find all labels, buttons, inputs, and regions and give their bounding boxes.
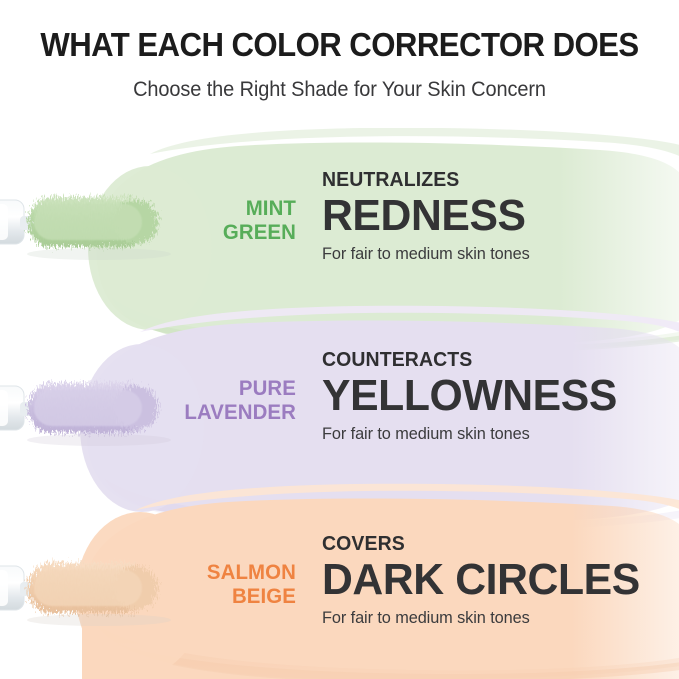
header: WHAT EACH COLOR CORRECTOR DOES Choose th…	[0, 0, 679, 102]
shade-name-line-2: BEIGE	[232, 584, 296, 608]
copy-column-mint-green: NEUTRALIZES REDNESS For fair to medium s…	[322, 170, 538, 262]
page-subtitle: Choose the Right Shade for Your Skin Con…	[17, 65, 662, 102]
caption-pure-lavender: For fair to medium skin tones	[322, 425, 614, 442]
shade-name-line-2: GREEN	[223, 220, 296, 244]
caption-mint-green: For fair to medium skin tones	[322, 245, 530, 262]
headline-mint-green: REDNESS	[322, 193, 532, 238]
eyebrow-pure-lavender: COUNTERACTS	[322, 350, 611, 371]
headline-pure-lavender: YELLOWNESS	[322, 373, 617, 418]
page-title: WHAT EACH COLOR CORRECTOR DOES	[24, 0, 655, 65]
shade-name-line-1: PURE	[239, 376, 296, 400]
shade-name-mint-green: MINT GREEN	[192, 196, 297, 245]
eyebrow-salmon-beige: COVERS	[322, 534, 633, 555]
shade-name-pure-lavender: PURE LAVENDER	[182, 376, 296, 425]
shade-name-salmon-beige: SALMON BEIGE	[182, 560, 296, 609]
copy-column-pure-lavender: COUNTERACTS YELLOWNESS For fair to mediu…	[322, 350, 626, 442]
shade-name-line-1: SALMON	[207, 560, 296, 584]
applicator-wand-salmon-beige	[0, 546, 194, 634]
applicator-wand-pure-lavender	[0, 366, 194, 454]
infographic-canvas: WHAT EACH COLOR CORRECTOR DOES Choose th…	[0, 0, 679, 679]
caption-salmon-beige: For fair to medium skin tones	[322, 609, 637, 626]
headline-salmon-beige: DARK CIRCLES	[322, 557, 640, 602]
copy-column-salmon-beige: COVERS DARK CIRCLES For fair to medium s…	[322, 534, 650, 626]
shade-name-line-1: MINT	[246, 196, 296, 220]
eyebrow-mint-green: NEUTRALIZES	[322, 170, 527, 191]
shade-name-line-2: LAVENDER	[184, 400, 296, 424]
applicator-wand-mint-green	[0, 180, 194, 268]
